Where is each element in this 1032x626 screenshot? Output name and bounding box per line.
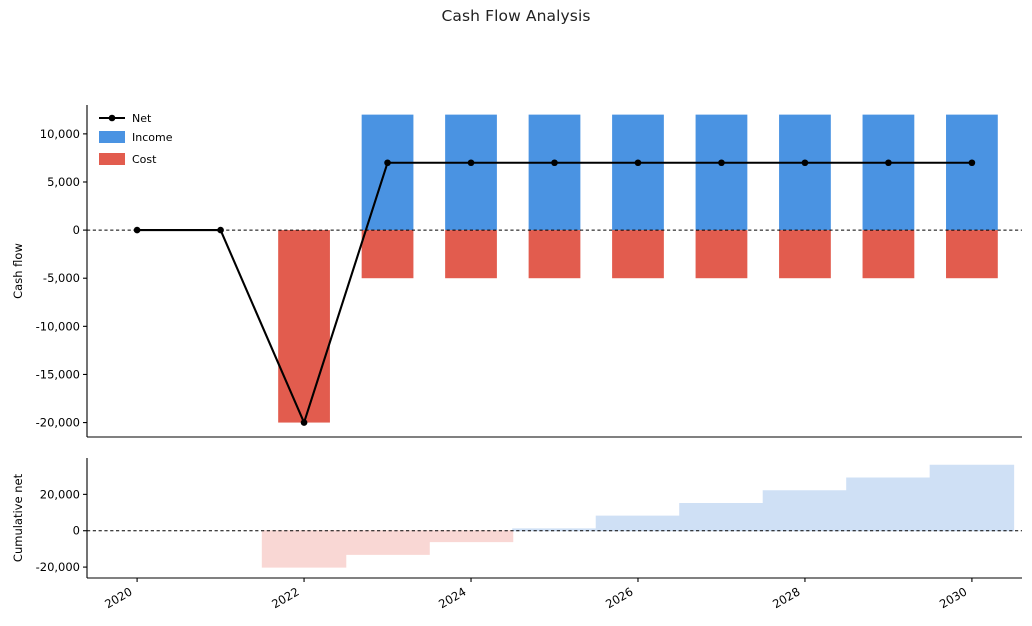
cost-bar xyxy=(696,230,748,278)
legend-label-income: Income xyxy=(132,131,173,144)
income-bar xyxy=(445,115,497,230)
cost-bar xyxy=(362,230,414,278)
cash-flow-figure: Cash Flow Analysis 10,0005,0000-5,000-10… xyxy=(0,0,1032,626)
cumulative-positive-area xyxy=(513,465,1014,530)
income-bar xyxy=(863,115,915,230)
cost-bar xyxy=(445,230,497,278)
y-tick-label: 20,000 xyxy=(40,487,80,501)
y-tick-label: -20,000 xyxy=(36,560,80,574)
y-axis-title: Cumulative net xyxy=(11,473,25,562)
cost-bar xyxy=(529,230,581,278)
y-tick-label: -5,000 xyxy=(43,271,80,285)
net-point xyxy=(468,159,475,166)
income-bar xyxy=(529,115,581,230)
cost-bar xyxy=(946,230,998,278)
cost-bar xyxy=(863,230,915,278)
chart-canvas: 10,0005,0000-5,000-10,000-15,000-20,000C… xyxy=(0,0,1032,626)
cost-bar xyxy=(779,230,831,278)
net-point xyxy=(134,227,141,234)
y-tick-label: 0 xyxy=(73,524,80,538)
net-point xyxy=(885,159,892,166)
net-point xyxy=(551,159,558,166)
y-tick-label: 10,000 xyxy=(40,127,80,141)
x-tick-label: 2022 xyxy=(269,584,301,611)
cumulative-net-panel: 20,0000-20,000Cumulative net202020222024… xyxy=(11,458,1022,611)
y-tick-label: 5,000 xyxy=(47,175,80,189)
net-point xyxy=(217,227,224,234)
y-tick-label: -15,000 xyxy=(36,367,80,381)
income-bar xyxy=(362,115,414,230)
net-point xyxy=(718,159,725,166)
y-axis-title: Cash flow xyxy=(11,243,25,299)
x-tick-label: 2028 xyxy=(770,584,802,611)
income-bar xyxy=(779,115,831,230)
legend-label-cost: Cost xyxy=(132,153,157,166)
net-point xyxy=(969,159,976,166)
net-point xyxy=(802,159,809,166)
income-bar xyxy=(696,115,748,230)
income-bar xyxy=(612,115,664,230)
x-tick-label: 2020 xyxy=(102,584,134,611)
net-point xyxy=(384,159,391,166)
y-tick-label: 0 xyxy=(73,223,80,237)
cumulative-negative-area xyxy=(262,531,512,567)
cost-bar xyxy=(278,230,330,422)
legend-label-net: Net xyxy=(132,112,152,125)
x-tick-label: 2026 xyxy=(603,584,635,611)
net-point xyxy=(301,419,308,426)
income-bar xyxy=(946,115,998,230)
legend-net-marker xyxy=(109,115,116,122)
net-point xyxy=(635,159,642,166)
legend: NetIncomeCost xyxy=(99,112,173,166)
legend-cost-swatch xyxy=(99,153,125,165)
cash-flow-panel: 10,0005,0000-5,000-10,000-15,000-20,000C… xyxy=(11,105,1022,437)
y-tick-label: -10,000 xyxy=(36,319,80,333)
x-tick-label: 2030 xyxy=(937,584,969,611)
legend-income-swatch xyxy=(99,131,125,143)
y-tick-label: -20,000 xyxy=(36,416,80,430)
x-tick-label: 2024 xyxy=(436,584,468,611)
cost-bar xyxy=(612,230,664,278)
